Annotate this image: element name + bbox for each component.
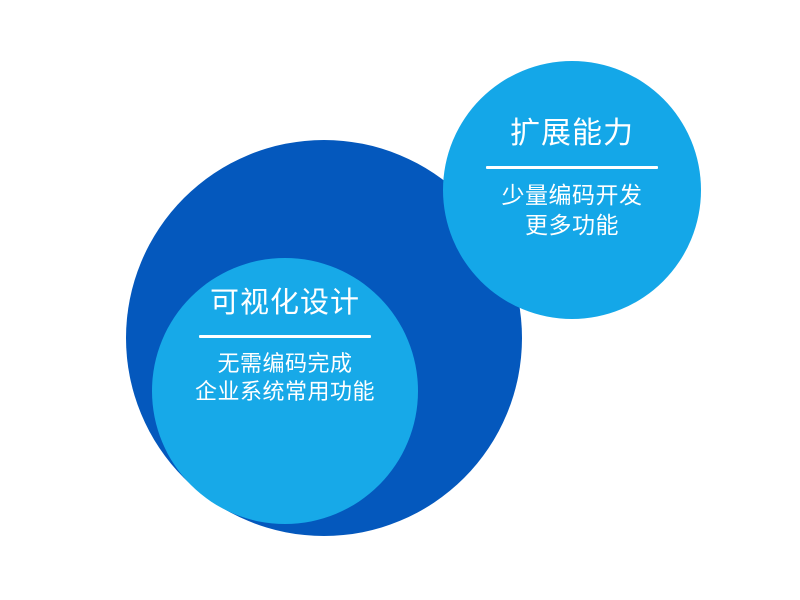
top-circle-subtitle-line-1: 少量编码开发 bbox=[443, 181, 701, 210]
inner-light-blue-circle: 可视化设计 无需编码完成 企业系统常用功能 bbox=[152, 258, 418, 524]
top-circle-content: 扩展能力 少量编码开发 更多功能 bbox=[443, 115, 701, 240]
top-circle-subtitle-line-2: 更多功能 bbox=[443, 211, 701, 240]
inner-circle-title: 可视化设计 bbox=[152, 285, 418, 322]
inner-circle-content: 可视化设计 无需编码完成 企业系统常用功能 bbox=[152, 285, 418, 406]
top-circle-subtitle: 少量编码开发 更多功能 bbox=[443, 181, 701, 240]
inner-circle-subtitle: 无需编码完成 企业系统常用功能 bbox=[152, 350, 418, 406]
inner-circle-divider bbox=[199, 335, 371, 338]
top-circle-divider bbox=[486, 166, 658, 169]
inner-circle-subtitle-line-1: 无需编码完成 bbox=[152, 350, 418, 378]
inner-circle-subtitle-line-2: 企业系统常用功能 bbox=[152, 378, 418, 406]
top-circle-title: 扩展能力 bbox=[443, 115, 701, 153]
diagram-canvas: 可视化设计 无需编码完成 企业系统常用功能 扩展能力 少量编码开发 更多功能 bbox=[0, 0, 800, 600]
top-light-blue-circle: 扩展能力 少量编码开发 更多功能 bbox=[443, 61, 701, 319]
